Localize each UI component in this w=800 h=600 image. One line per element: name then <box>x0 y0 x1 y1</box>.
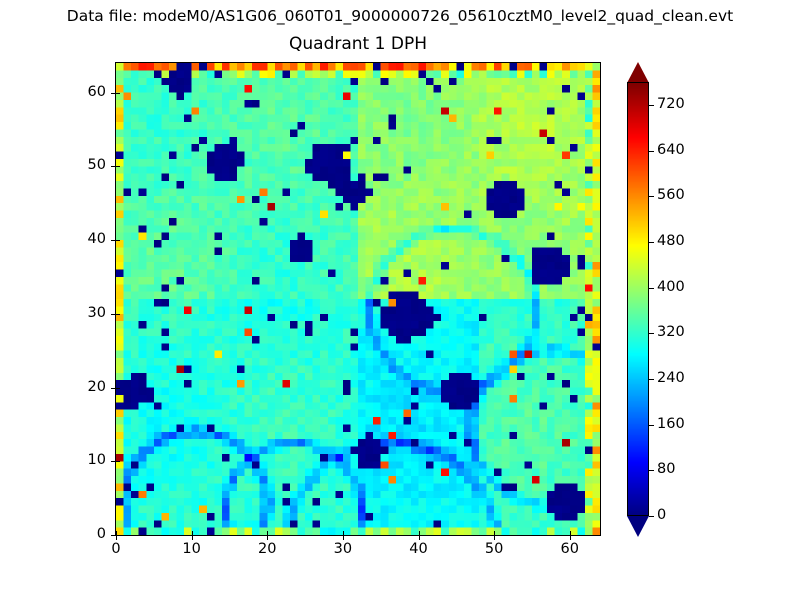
y-tick-label: 60 <box>66 84 106 101</box>
colorbar-tick-mark <box>649 516 654 517</box>
page-title: Quadrant 1 DPH <box>115 34 601 54</box>
y-tick-label: 0 <box>66 526 106 543</box>
x-tick-label: 30 <box>323 541 363 558</box>
x-tick-mark-inner <box>343 531 344 535</box>
y-tick-mark-inner <box>116 240 120 241</box>
y-tick-label: 10 <box>66 452 106 469</box>
x-tick-label: 10 <box>172 541 212 558</box>
colorbar-tick-mark <box>649 196 654 197</box>
colorbar-tick-mark <box>649 242 654 243</box>
x-tick-mark <box>419 536 420 540</box>
y-tick-mark-inner <box>116 461 120 462</box>
colorbar-tick-mark <box>649 105 654 106</box>
x-tick-mark-inner <box>494 531 495 535</box>
colorbar[interactable] <box>627 62 649 536</box>
heatmap-axes[interactable] <box>115 62 601 536</box>
colorbar-body <box>627 82 649 516</box>
y-tick-mark-inner <box>116 93 120 94</box>
colorbar-tick-label: 480 <box>657 233 685 250</box>
y-tick-mark <box>111 535 115 536</box>
colorbar-tick-label: 560 <box>657 187 685 204</box>
x-tick-mark <box>192 536 193 540</box>
y-tick-mark <box>111 240 115 241</box>
colorbar-under-arrow-icon <box>627 516 649 537</box>
y-tick-mark <box>111 388 115 389</box>
colorbar-tick-label: 160 <box>657 416 685 433</box>
colorbar-tick-mark <box>649 425 654 426</box>
colorbar-tick-label: 400 <box>657 279 685 296</box>
colorbar-tick-label: 320 <box>657 324 685 341</box>
y-tick-label: 30 <box>66 305 106 322</box>
x-tick-label: 0 <box>96 541 136 558</box>
colorbar-tick-label: 240 <box>657 370 685 387</box>
colorbar-gradient <box>628 83 649 516</box>
y-tick-mark <box>111 461 115 462</box>
y-tick-mark <box>111 314 115 315</box>
colorbar-over-arrow-icon <box>627 62 649 83</box>
colorbar-tick-mark <box>649 470 654 471</box>
colorbar-tick-mark <box>649 288 654 289</box>
x-tick-label: 60 <box>550 541 590 558</box>
x-tick-label: 50 <box>474 541 514 558</box>
figure-canvas: Data file: modeM0/AS1G06_060T01_90000007… <box>0 0 800 600</box>
y-tick-mark-inner <box>116 535 120 536</box>
y-tick-mark <box>111 166 115 167</box>
colorbar-tick-label: 720 <box>657 96 685 113</box>
y-tick-label: 50 <box>66 157 106 174</box>
x-tick-label: 40 <box>399 541 439 558</box>
detector-heatmap-image <box>116 63 600 535</box>
colorbar-tick-label: 640 <box>657 142 685 159</box>
colorbar-tick-mark <box>649 333 654 334</box>
x-tick-mark <box>494 536 495 540</box>
x-tick-label: 20 <box>247 541 287 558</box>
x-tick-mark <box>343 536 344 540</box>
x-tick-mark-inner <box>570 531 571 535</box>
x-tick-mark-inner <box>267 531 268 535</box>
y-tick-mark-inner <box>116 388 120 389</box>
x-tick-mark <box>570 536 571 540</box>
x-tick-mark-inner <box>419 531 420 535</box>
colorbar-tick-mark <box>649 151 654 152</box>
y-tick-label: 20 <box>66 379 106 396</box>
colorbar-tick-label: 0 <box>657 507 666 524</box>
x-tick-mark-inner <box>192 531 193 535</box>
y-tick-mark <box>111 93 115 94</box>
y-tick-mark-inner <box>116 166 120 167</box>
y-tick-label: 40 <box>66 231 106 248</box>
x-tick-mark <box>116 536 117 540</box>
colorbar-tick-label: 80 <box>657 461 675 478</box>
y-tick-mark-inner <box>116 314 120 315</box>
x-tick-mark <box>267 536 268 540</box>
colorbar-tick-mark <box>649 379 654 380</box>
data-file-suptitle: Data file: modeM0/AS1G06_060T01_90000007… <box>0 7 800 25</box>
